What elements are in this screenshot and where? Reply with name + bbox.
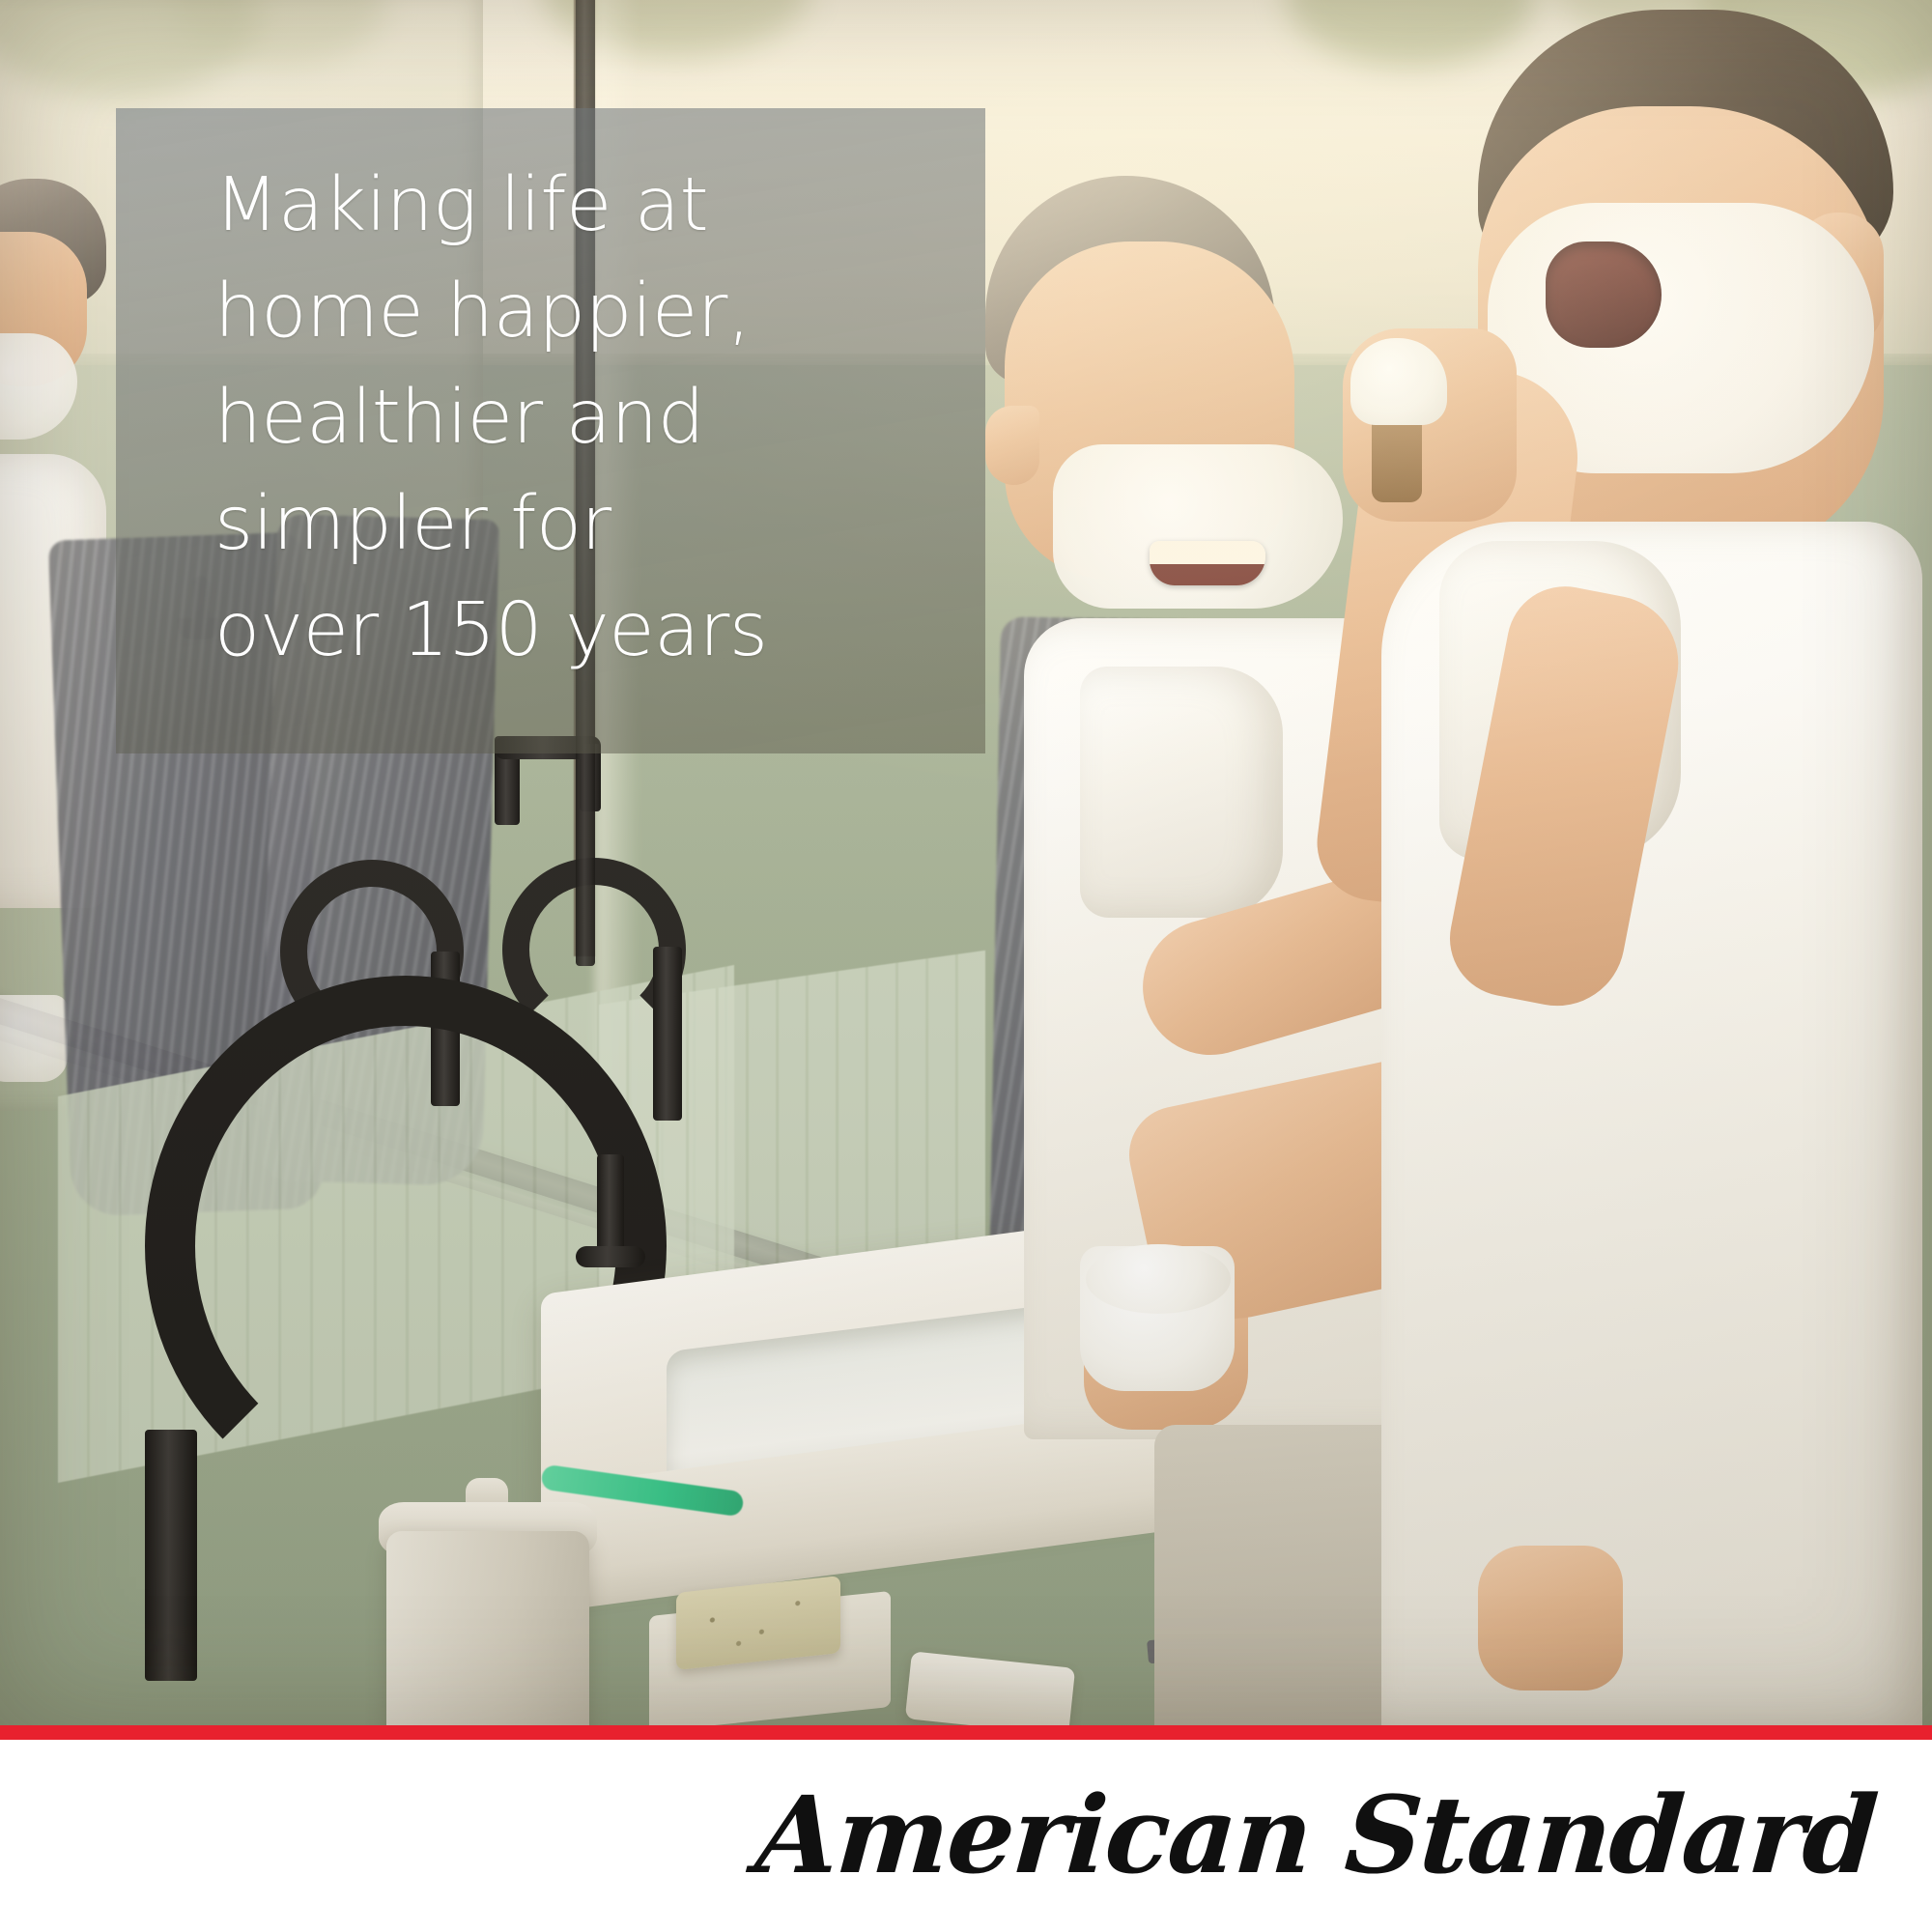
shaving-cream-in-bowl bbox=[1086, 1244, 1231, 1314]
faucet-rear-stem bbox=[653, 947, 682, 1121]
faucet-handle-base bbox=[576, 1246, 645, 1267]
shaving-brush-bristles bbox=[1350, 338, 1447, 425]
main-faucet-base bbox=[145, 1430, 197, 1681]
ceramic-jar bbox=[386, 1531, 589, 1725]
faucet-handle-post bbox=[597, 1154, 624, 1261]
brand-logo: American Standard bbox=[753, 1782, 1880, 1889]
reflection-cream-bowl bbox=[0, 995, 68, 1082]
hero-photo: Making life at home happier, healthier a… bbox=[0, 0, 1932, 1725]
boy-resting-hand bbox=[1478, 1546, 1623, 1690]
father-ear bbox=[985, 406, 1039, 485]
brand-accent-bar bbox=[0, 1725, 1932, 1740]
father-smile bbox=[1150, 541, 1265, 585]
father-sleeve bbox=[1080, 667, 1283, 918]
boy-open-mouth bbox=[1546, 241, 1662, 348]
advertisement-card: Making life at home happier, healthier a… bbox=[0, 0, 1932, 1932]
headline-text: Making life at home happier, healthier a… bbox=[214, 153, 978, 684]
